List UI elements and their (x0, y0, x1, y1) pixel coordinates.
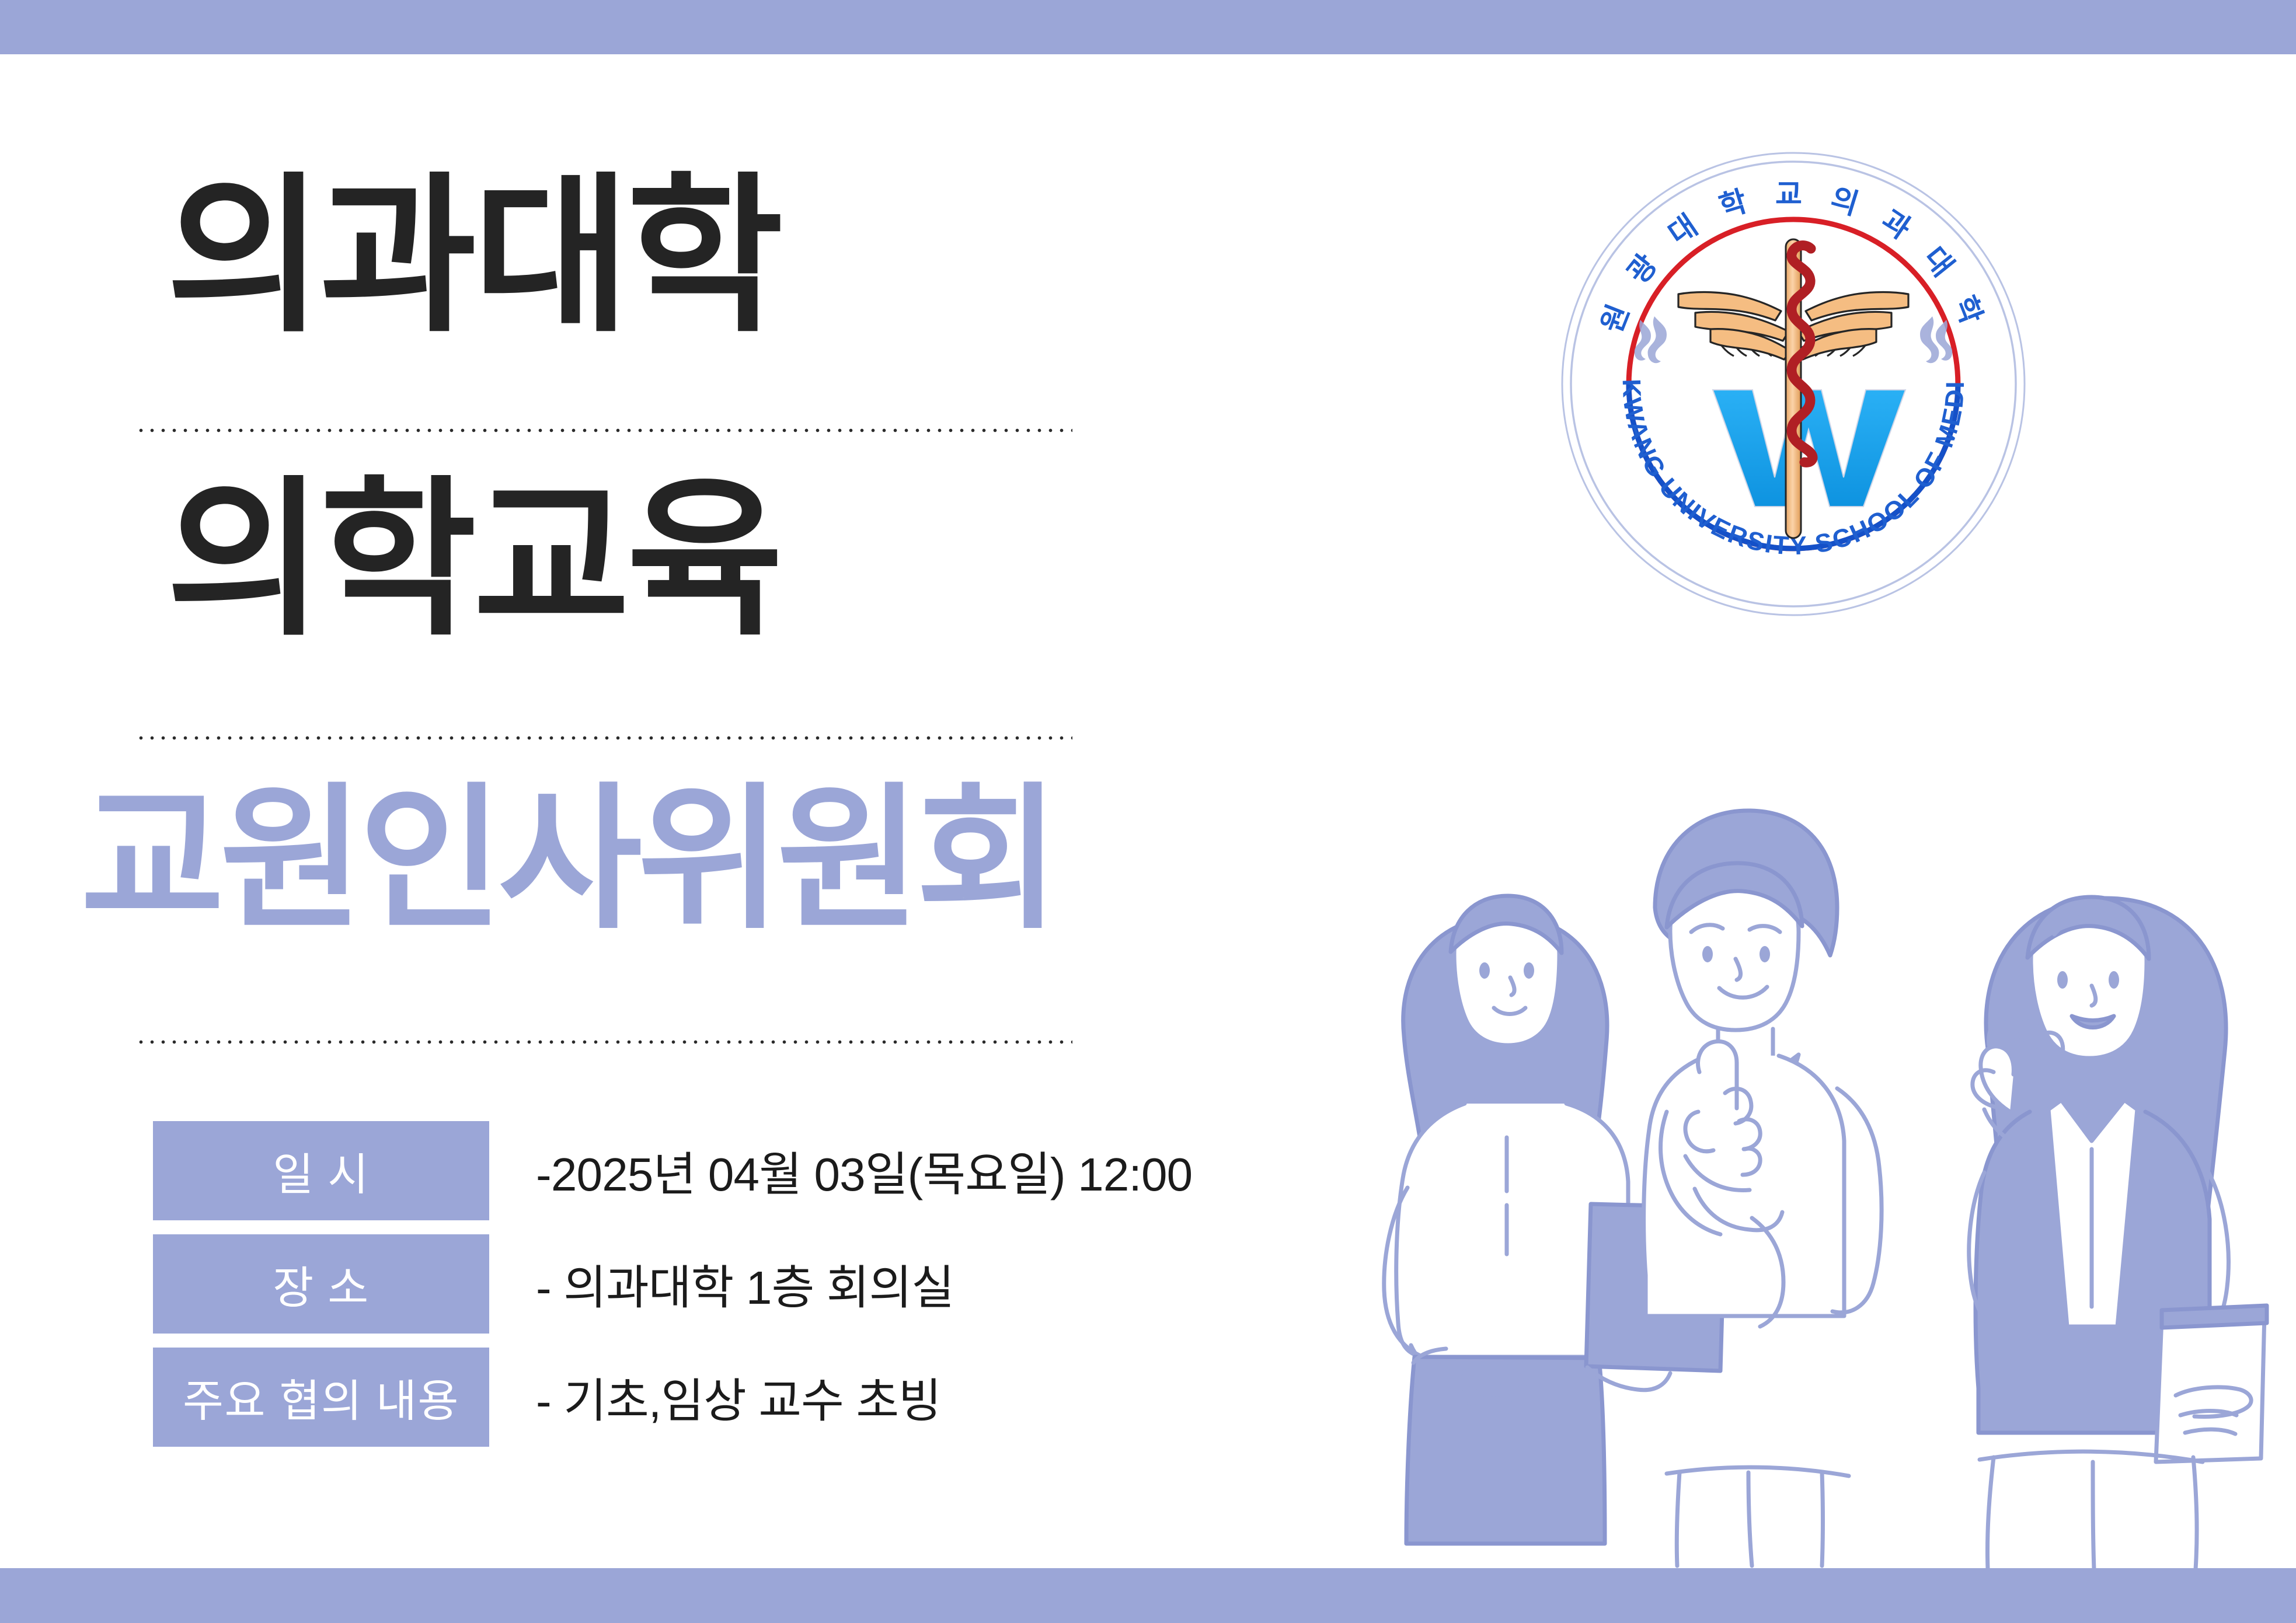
info-value-agenda: - 기초,임상 교수 초빙 (489, 1348, 1262, 1447)
info-row-location: 장 소 - 의과대학 1층 회의실 (153, 1234, 1262, 1334)
headline-line-1: 의과대학 (166, 171, 780, 341)
three-people-illustration (1340, 785, 2280, 1570)
info-label-location: 장 소 (153, 1234, 489, 1334)
university-emblem: 원 광 대 학 교 의 과 대 학 WONKWANG UNIVERSITY SC… (1560, 151, 2027, 617)
info-label-datetime: 일 시 (153, 1121, 489, 1220)
bottom-accent-band (0, 1568, 2296, 1623)
info-row-agenda: 주요 협의 내용 - 기초,임상 교수 초빙 (153, 1348, 1262, 1447)
info-label-agenda: 주요 협의 내용 (153, 1348, 489, 1447)
info-block: 일 시 -2025년 04월 03일(목요일) 12:00 장 소 - 의과대학… (153, 1121, 1262, 1461)
headline-line-2: 의학교육 (166, 474, 780, 645)
figure-man-center (1644, 811, 1882, 1566)
info-value-location: - 의과대학 1층 회의실 (489, 1234, 1262, 1334)
dotted-divider-1 (135, 428, 1072, 433)
dotted-divider-3 (135, 1039, 1072, 1045)
dotted-divider-2 (135, 735, 1072, 741)
headline-column: 의과대학 의학교육 교원인사위원회 일 시 -2025년 04월 03일(목요일… (0, 54, 1314, 1568)
info-row-datetime: 일 시 -2025년 04월 03일(목요일) 12:00 (153, 1121, 1262, 1220)
top-accent-band (0, 0, 2296, 54)
info-value-datetime: -2025년 04월 03일(목요일) 12:00 (489, 1121, 1262, 1220)
figure-woman-right (1969, 897, 2267, 1569)
poster-canvas: 의과대학 의학교육 교원인사위원회 일 시 -2025년 04월 03일(목요일… (0, 0, 2296, 1623)
headline-line-3: 교원인사위원회 (81, 781, 1055, 937)
